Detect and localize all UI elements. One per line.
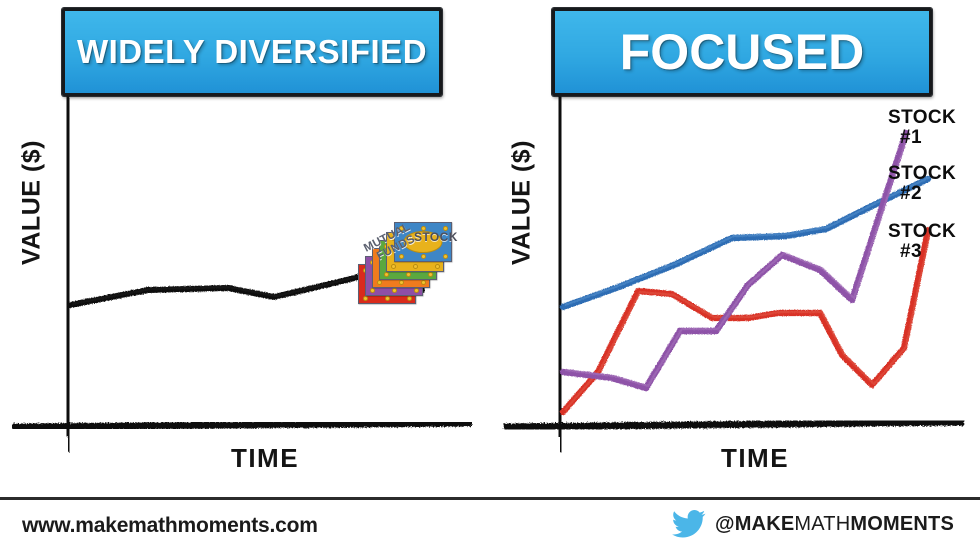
coin-dot	[370, 288, 375, 293]
coin-dot	[414, 288, 419, 293]
website-url[interactable]: www.makemathmoments.com	[22, 514, 318, 538]
series-label-stock-3: STOCK #3	[888, 222, 956, 262]
fund-card-blue	[394, 222, 452, 262]
panel-focused: FOCUSED	[490, 0, 980, 497]
series-label-stock-2: STOCK #2	[888, 164, 956, 204]
series-label-name: STOCK	[888, 164, 956, 184]
x-axis-stroke	[12, 423, 472, 428]
coin-dot	[363, 296, 368, 301]
x-axis-label-left: TIME	[150, 443, 380, 474]
coin-dot	[384, 272, 389, 277]
series-label-number: #3	[888, 242, 956, 262]
coin-dot	[406, 272, 411, 277]
series-label-number: #1	[888, 128, 956, 148]
coin-dot	[391, 264, 396, 269]
coin-dot	[413, 264, 418, 269]
y-axis-label-right: VALUE ($)	[508, 133, 537, 273]
series-label-number: #2	[888, 184, 956, 204]
coin-dot	[392, 288, 397, 293]
x-axis-stroke	[504, 422, 964, 428]
coin-dot	[399, 280, 404, 285]
coin-dot	[435, 264, 440, 269]
y-axis-label-left: VALUE ($)	[18, 133, 47, 273]
coin-dot	[428, 272, 433, 277]
series-label-stock-1: STOCK #1	[888, 108, 956, 148]
coin-dot	[377, 280, 382, 285]
series-stock-3	[563, 230, 930, 412]
handle-part-mid: MATH	[794, 513, 850, 535]
social-handle-group[interactable]: @MAKEMATHMOMENTS	[672, 510, 954, 538]
coin-dot	[385, 296, 390, 301]
twitter-bird-icon	[672, 510, 706, 538]
mutual-funds-card-stack: STOCK MUTUAL FUNDS	[358, 222, 454, 304]
panel-widely-diversified: WIDELY DIVERSIFIED	[0, 0, 490, 497]
infographic-canvas: WIDELY DIVERSIFIED	[0, 0, 980, 551]
handle-part-suffix: MOMENTS	[850, 513, 954, 535]
series-label-name: STOCK	[888, 108, 956, 128]
series-stock-1	[563, 133, 908, 388]
series-label-name: STOCK	[888, 222, 956, 242]
coin-oval-icon	[395, 223, 451, 261]
y-axis-stroke	[559, 96, 561, 437]
coin-dot	[407, 296, 412, 301]
x-axis-label-right: TIME	[640, 443, 870, 474]
footer-bar: www.makemathmoments.com @MAKEMATHMOMENTS	[0, 497, 980, 551]
twitter-handle: @MAKEMATHMOMENTS	[715, 513, 954, 536]
y-axis-stroke	[67, 96, 69, 437]
coin-dot	[421, 280, 426, 285]
handle-part-prefix: @MAKE	[715, 513, 794, 535]
